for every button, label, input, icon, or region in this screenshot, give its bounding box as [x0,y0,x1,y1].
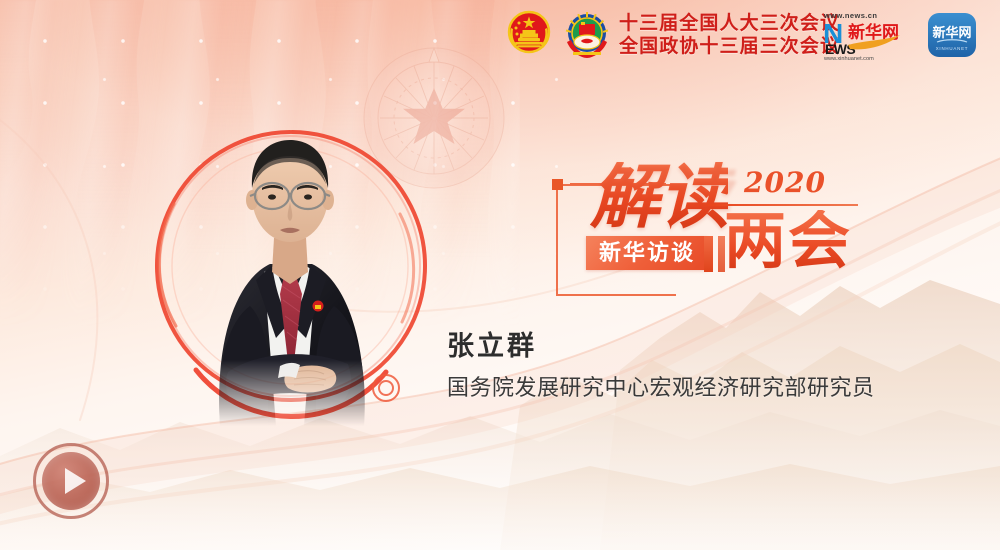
speaker-position: 国务院发展研究中心宏观经济研究部研究员 [447,374,917,403]
lapel-pin-icon [313,301,324,312]
title-year: 2020 [744,166,826,199]
conference-title: 十三届全国人大三次会议 全国政协十三届三次会议 [619,12,840,58]
speaker-portrait-block [150,118,430,428]
speaker-photo [184,126,396,426]
poster-header: 十三届全国人大三次会议 全国政协十三届三次会议 www.news.cn N EW… [0,0,1000,72]
program-title-lockup: 解读 2020 两会 新华访谈 [556,158,876,298]
play-button[interactable] [33,443,109,519]
badge-bars [704,236,725,272]
speaker-info: 张立群 国务院发展研究中心宏观经济研究部研究员 [447,330,917,402]
badge-bar-2 [718,236,725,272]
xinhua-bottom-url: www.xinhuanet.com [823,56,874,61]
program-badge: 新华访谈 [586,236,708,270]
title-topic: 两会 [724,210,852,272]
national-emblem-prc-icon [505,8,553,60]
video-poster: 十三届全国人大三次会议 全国政协十三届三次会议 www.news.cn N EW… [0,0,1000,550]
xinhuanet-logo[interactable]: www.news.cn N EWS 新华网 www.xinhuanet.com [822,9,914,61]
app-icon-label: 新华网 [932,25,971,41]
speaker-name: 张立群 [447,330,917,364]
emblem-group [505,8,611,60]
conference-line-2: 全国政协十三届三次会议 [619,35,840,58]
cppcc-emblem-icon [563,8,611,60]
play-triangle-icon [65,468,86,494]
conference-line-1: 十三届全国人大三次会议 [619,12,840,35]
title-main: 解读 [590,162,728,232]
xinhua-app-icon[interactable]: 新华网 XINHUANET [925,11,979,59]
badge-bar-1 [704,236,713,272]
app-icon-sub-label: XINHUANET [936,46,969,51]
